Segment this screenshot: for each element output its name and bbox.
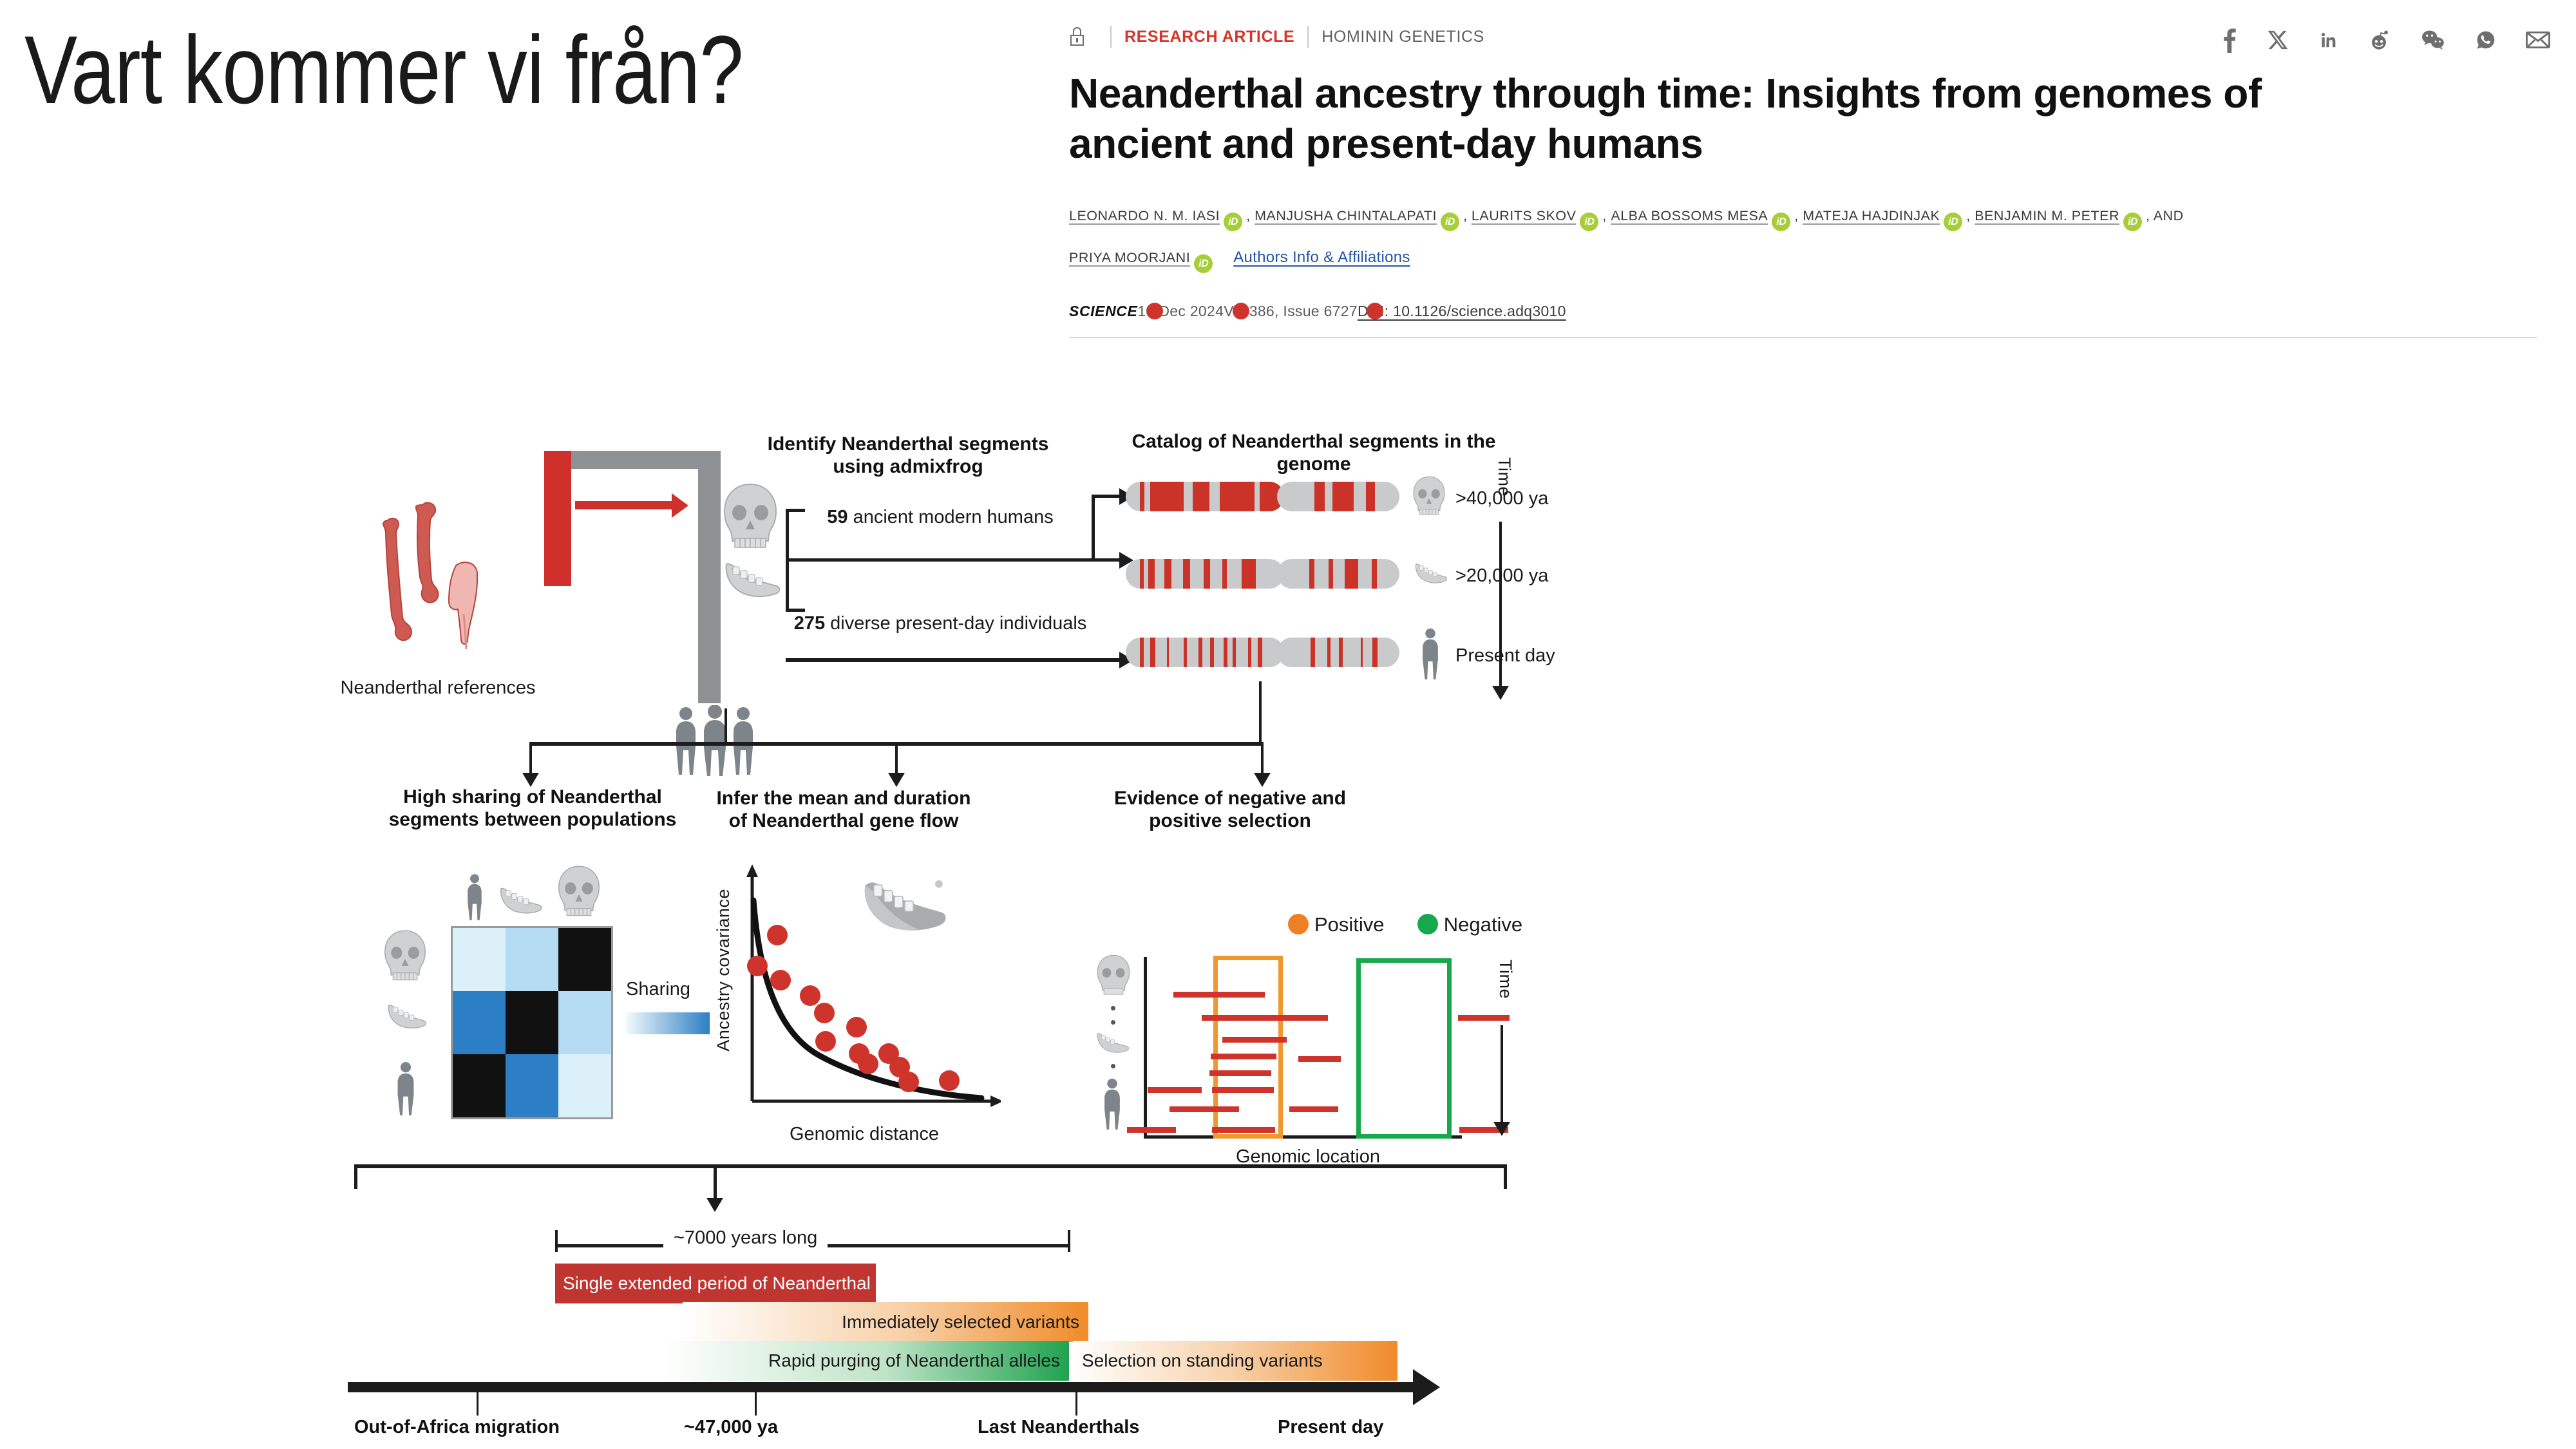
segment-line: [1211, 1054, 1276, 1059]
author-name[interactable]: MANJUSHA CHINTALAPATI: [1255, 208, 1437, 223]
heatmap-cell: [506, 928, 558, 991]
article-header: RESEARCH ARTICLE HOMININ GENETICS Neande…: [1069, 22, 2550, 338]
ellipsis-dot: [1111, 1064, 1115, 1068]
timeline-bar-rapid-purging: Rapid purging of Neanderthal alleles: [663, 1341, 1069, 1381]
timeline-axis-arrow: [1413, 1369, 1440, 1405]
duration-left-tick: [555, 1230, 558, 1252]
sharing-heatmap: [451, 926, 613, 1119]
red-arrow-shaft: [575, 501, 673, 509]
skull-icon: [1094, 953, 1133, 998]
slide-canvas: Vart kommer vi från? RESEARCH ARTICLE HO…: [0, 0, 2576, 1449]
chromosome-row-present-day: [1126, 638, 1399, 667]
skull-icon: [380, 927, 430, 985]
neanderthal-bone-icons: [366, 496, 501, 663]
chromosome-row-20000ya: [1126, 559, 1399, 589]
chromosome-arm-right: [1277, 482, 1399, 511]
author-entry[interactable]: ALBA BOSSOMS MESAiD,: [1611, 208, 1803, 223]
heatmap-cell: [506, 1054, 558, 1117]
segment-line: [1212, 1127, 1275, 1133]
timeline-bar-gene-flow: Single extended period of Neanderthal ge…: [555, 1264, 876, 1303]
author-name[interactable]: LEONARDO N. M. IASI: [1069, 208, 1220, 223]
red-arrow-head: [672, 493, 688, 518]
ancient-arrow-2-shaft: [1092, 558, 1121, 562]
ancient-connector-line: [786, 558, 1095, 562]
duration-right-tick: [1068, 1230, 1070, 1252]
chromosome-age-label: >40,000 ya: [1455, 488, 1548, 509]
heatmap-cell: [506, 991, 558, 1054]
bus-stem-up: [724, 708, 727, 744]
segment-line: [1148, 1087, 1202, 1093]
author-entry[interactable]: PRIYA MOORJANIiD: [1069, 250, 1217, 265]
article-topic-label[interactable]: HOMININ GENETICS: [1321, 28, 1484, 46]
segment-line: [1209, 1070, 1271, 1076]
present-arrow-shaft: [786, 658, 1121, 662]
person-icon: [1417, 623, 1444, 681]
selection-y-axis: [1144, 957, 1147, 1139]
chromosome-age-label: >20,000 ya: [1455, 565, 1548, 587]
present-sample-label: 275 diverse present-day individuals: [786, 612, 1095, 636]
bottom-bus-stem: [714, 1168, 717, 1202]
chromosome-arm-left: [1126, 638, 1284, 667]
orcid-icon[interactable]: iD: [1580, 213, 1598, 231]
divider: [1110, 26, 1112, 48]
author-entry[interactable]: MATEJA HAJDINJAKiD,: [1803, 208, 1975, 223]
positive-legend-dot: [1288, 914, 1309, 934]
bottom-bus-left-tick: [354, 1164, 357, 1189]
segment-line: [1458, 1015, 1510, 1021]
segment-line: [1202, 1015, 1328, 1021]
journal-name: SCIENCE: [1069, 303, 1137, 319]
bus-branch-3-arrow: [1254, 773, 1271, 787]
segment-line: [1289, 1106, 1338, 1112]
whatsapp-icon[interactable]: [2476, 27, 2496, 53]
ancient-arrow-1-shaft: [1092, 495, 1121, 498]
present-sample-text: diverse present-day individuals: [825, 613, 1086, 634]
jawbone-icon: [385, 1001, 430, 1031]
bus-branch-2-arrow: [888, 773, 905, 787]
orcid-icon[interactable]: iD: [2123, 213, 2142, 231]
chromosome-arm-right: [1277, 638, 1399, 667]
person-icon: [462, 869, 487, 922]
ancient-sample-count: 59: [827, 507, 848, 527]
and-conjunction: , AND: [2146, 208, 2184, 223]
skull-icon: [554, 863, 604, 921]
segment-line: [1222, 1037, 1287, 1043]
heatmap-cell: [453, 991, 506, 1054]
ellipsis-dot: [1111, 1020, 1115, 1025]
segment-line: [1173, 992, 1265, 998]
authors-info-affiliations-link[interactable]: Authors Info & Affiliations: [1233, 249, 1410, 266]
heatmap-cell: [558, 991, 611, 1054]
sharing-legend-label: Sharing: [626, 979, 690, 1000]
author-name[interactable]: PRIYA MOORJANI: [1069, 250, 1190, 265]
bus-branch-1-arrow: [522, 773, 539, 787]
jawbone-icon: [497, 884, 546, 917]
graphical-abstract-figure: Neanderthal references: [361, 451, 1726, 1436]
skull-icon: [718, 482, 782, 553]
negative-legend-label: Negative: [1444, 913, 1522, 936]
bottom-bus-horizontal: [354, 1164, 1507, 1168]
timeline-bar-immediate-selection: Immediately selected variants: [683, 1302, 1088, 1342]
bus-branch-3: [1261, 742, 1264, 777]
step-identify-heading: Identify Neanderthal segments using admi…: [747, 433, 1069, 478]
covariance-ylabel: Ancestry covariance: [714, 889, 734, 1052]
timeline-tick: [477, 1392, 478, 1416]
chromosome-arm-left: [1126, 559, 1284, 589]
orcid-icon[interactable]: iD: [1772, 213, 1790, 231]
timeline-label-last-neanderthals: Last Neanderthals: [978, 1417, 1139, 1438]
ancient-sample-label: 59 ancient modern humans: [811, 506, 1069, 529]
author-name[interactable]: BENJAMIN M. PETER: [1975, 208, 2119, 223]
timeline-bar-standing-variants: Selection on standing variants: [1073, 1341, 1397, 1381]
bottom-bus-right-tick: [1504, 1164, 1507, 1189]
selection-time-arrow-head: [1493, 1122, 1510, 1136]
slide-title: Vart kommer vi från?: [24, 19, 743, 121]
ellipsis-dot: [1111, 1006, 1115, 1010]
chromosome-age-label: Present day: [1455, 645, 1555, 667]
selection-legend: Positive Negative: [1288, 913, 1522, 936]
panel-3-heading: Evidence of negative and positive select…: [1095, 787, 1365, 833]
linkedin-icon[interactable]: [2318, 27, 2338, 53]
citation-line: SCIENCE·13 Dec 2024·Vol 386, Issue 6727·…: [1069, 303, 2537, 338]
jawbone-icon: [857, 875, 953, 935]
selection-ylabel: Time: [1495, 960, 1515, 999]
gray-frame-right: [698, 451, 721, 703]
chromosome-arm-left: [1126, 482, 1284, 511]
sample-bracket-top: [786, 509, 805, 512]
bottom-bus-arrow: [706, 1198, 723, 1212]
person-icon: [392, 1056, 420, 1118]
orcid-icon[interactable]: iD: [1441, 213, 1459, 231]
heatmap-cell: [558, 1054, 611, 1117]
jawbone-icon: [721, 559, 786, 600]
skull-icon: [1409, 475, 1449, 518]
share-icon-row: [2221, 27, 2550, 53]
person-icon: [1099, 1074, 1126, 1131]
panel-1-heading: High sharing of Neanderthal segments bet…: [375, 786, 690, 831]
wechat-icon[interactable]: [2420, 27, 2446, 53]
author-name[interactable]: LAURITS SKOV: [1472, 208, 1577, 223]
divider: [1307, 26, 1309, 48]
present-sample-count: 275: [794, 613, 825, 634]
article-type-label[interactable]: RESEARCH ARTICLE: [1124, 28, 1294, 46]
red-reference-bar: [544, 451, 571, 586]
timeline-bar-label: Selection on standing variants: [1082, 1350, 1323, 1371]
orcid-icon[interactable]: iD: [1944, 213, 1962, 231]
x-twitter-icon[interactable]: [2267, 27, 2289, 53]
selection-time-arrow-shaft: [1501, 1025, 1503, 1126]
panel-2-heading: Infer the mean and duration of Neanderth…: [708, 787, 979, 833]
author-name[interactable]: ALBA BOSSOMS MESA: [1611, 208, 1768, 223]
orcid-icon[interactable]: iD: [1224, 213, 1242, 231]
doi-link[interactable]: DOI: 10.1126/science.adq3010: [1358, 303, 1566, 319]
timeline-label-47000ya: ~47,000 ya: [684, 1417, 778, 1438]
negative-legend-dot: [1417, 914, 1438, 934]
jawbone-icon: [1095, 1030, 1132, 1055]
author-entry[interactable]: LAURITS SKOViD,: [1472, 208, 1611, 223]
bus-stem-up-right: [1259, 681, 1262, 744]
reddit-icon[interactable]: [2367, 27, 2391, 53]
timeline-label-present-day: Present day: [1278, 1417, 1383, 1438]
timeline-tick: [755, 1392, 757, 1416]
timeline-bar-label: Immediately selected variants: [842, 1312, 1079, 1332]
segment-line: [1212, 1087, 1274, 1093]
chromosome-arm-right: [1277, 559, 1399, 589]
facebook-icon[interactable]: [2221, 27, 2237, 53]
bus-branch-2: [895, 742, 898, 777]
sample-bracket-bottom: [786, 609, 805, 612]
negative-selection-region: [1356, 958, 1452, 1139]
author-name[interactable]: MATEJA HAJDINJAK: [1803, 208, 1940, 223]
ancient-split-vertical: [1092, 495, 1095, 562]
timeline-bar-label: Single extended period of Neanderthal ge…: [563, 1273, 953, 1294]
open-lock-icon: [1069, 27, 1086, 46]
heatmap-cell: [558, 928, 611, 991]
article-title: Neanderthal ancestry through time: Insig…: [1069, 68, 2370, 169]
segment-line: [1298, 1056, 1341, 1062]
covariance-xlabel: Genomic distance: [742, 1124, 987, 1145]
article-kicker-row: RESEARCH ARTICLE HOMININ GENETICS: [1069, 22, 2550, 52]
chromosome-row-40000ya: [1126, 482, 1399, 511]
timeline-tick: [1075, 1392, 1077, 1416]
heatmap-cell: [453, 1054, 506, 1117]
author-entry[interactable]: LEONARDO N. M. IASIiD,: [1069, 208, 1255, 223]
heatmap-cell: [453, 928, 506, 991]
ancient-sample-text: ancient modern humans: [848, 507, 1054, 527]
catalog-heading: Catalog of Neanderthal segments in the g…: [1121, 430, 1507, 476]
jawbone-icon: [1413, 560, 1450, 586]
catalog-time-arrow-head: [1492, 686, 1509, 700]
segment-line: [1127, 1127, 1176, 1133]
timeline-axis: [348, 1382, 1418, 1392]
segment-line: [1170, 1106, 1239, 1112]
email-icon[interactable]: [2526, 27, 2550, 53]
present-day-people-icon: [670, 705, 760, 776]
author-entry[interactable]: BENJAMIN M. PETERiD, AND: [1975, 208, 2183, 223]
orcid-icon[interactable]: iD: [1194, 254, 1213, 273]
bus-branch-1: [529, 742, 532, 777]
timeline-bar-label: Rapid purging of Neanderthal alleles: [768, 1350, 1060, 1371]
sharing-legend-gradient: [626, 1012, 710, 1034]
positive-legend-label: Positive: [1314, 913, 1385, 936]
author-list: LEONARDO N. M. IASIiD, MANJUSHA CHINTALA…: [1069, 198, 2550, 279]
timeline-label-out-of-africa: Out-of-Africa migration: [354, 1417, 560, 1438]
neanderthal-references-label: Neanderthal references: [335, 676, 541, 699]
author-entry[interactable]: MANJUSHA CHINTALAPATIiD,: [1255, 208, 1472, 223]
duration-label: ~7000 years long: [663, 1227, 828, 1249]
